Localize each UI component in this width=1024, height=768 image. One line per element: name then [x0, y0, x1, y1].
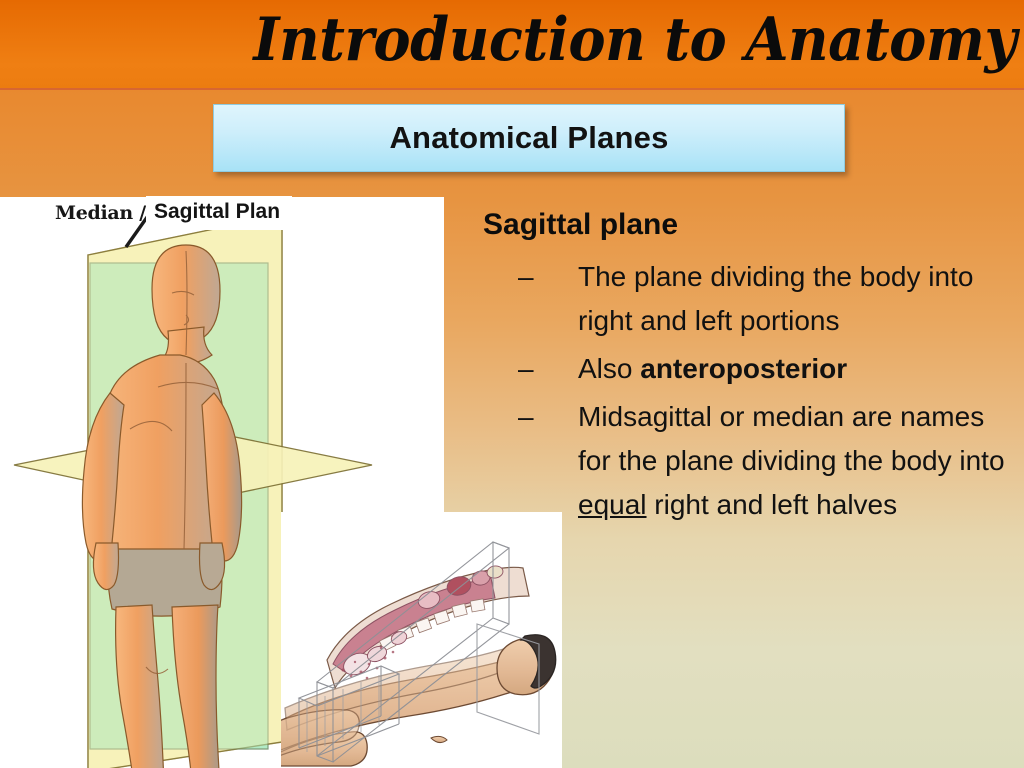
section-title-text: Anatomical Planes: [389, 120, 668, 156]
deck-title: Introduction to Anatomy: [253, 4, 1016, 76]
bullet-dash-icon: –: [518, 395, 534, 439]
list-item: – Midsagittal or median are names for th…: [483, 395, 1023, 527]
bullet-text-underline: equal: [578, 489, 647, 520]
bullet-text-prefix: Also: [578, 353, 640, 384]
midsagittal-section-illustration: [281, 512, 562, 768]
slide-header-band: Introduction to Anatomy: [0, 0, 1024, 90]
midsagittal-section-figure: [281, 512, 562, 768]
bullet-text-prefix: Midsagittal or median are names for the …: [578, 401, 1005, 476]
bullet-dash-icon: –: [518, 347, 534, 391]
list-item: – Also anteroposterior: [483, 347, 1023, 391]
bullet-dash-icon: –: [518, 255, 534, 299]
bullet-text: The plane dividing the body into right a…: [578, 261, 973, 336]
bullet-list: – The plane dividing the body into right…: [483, 255, 1023, 527]
slide-body-content: Sagittal plane – The plane dividing the …: [483, 205, 1023, 531]
bullet-text-emphasis: anteroposterior: [640, 353, 847, 384]
section-title-plate: Anatomical Planes: [213, 104, 845, 172]
list-item: – The plane dividing the body into right…: [483, 255, 1023, 343]
sagittal-plan-label: Sagittal Plan: [146, 196, 292, 230]
header-divider-rule: [0, 88, 1024, 90]
median-label: Median /: [55, 202, 146, 224]
bullet-text-suffix: right and left halves: [647, 489, 898, 520]
body-heading: Sagittal plane: [483, 205, 1023, 245]
